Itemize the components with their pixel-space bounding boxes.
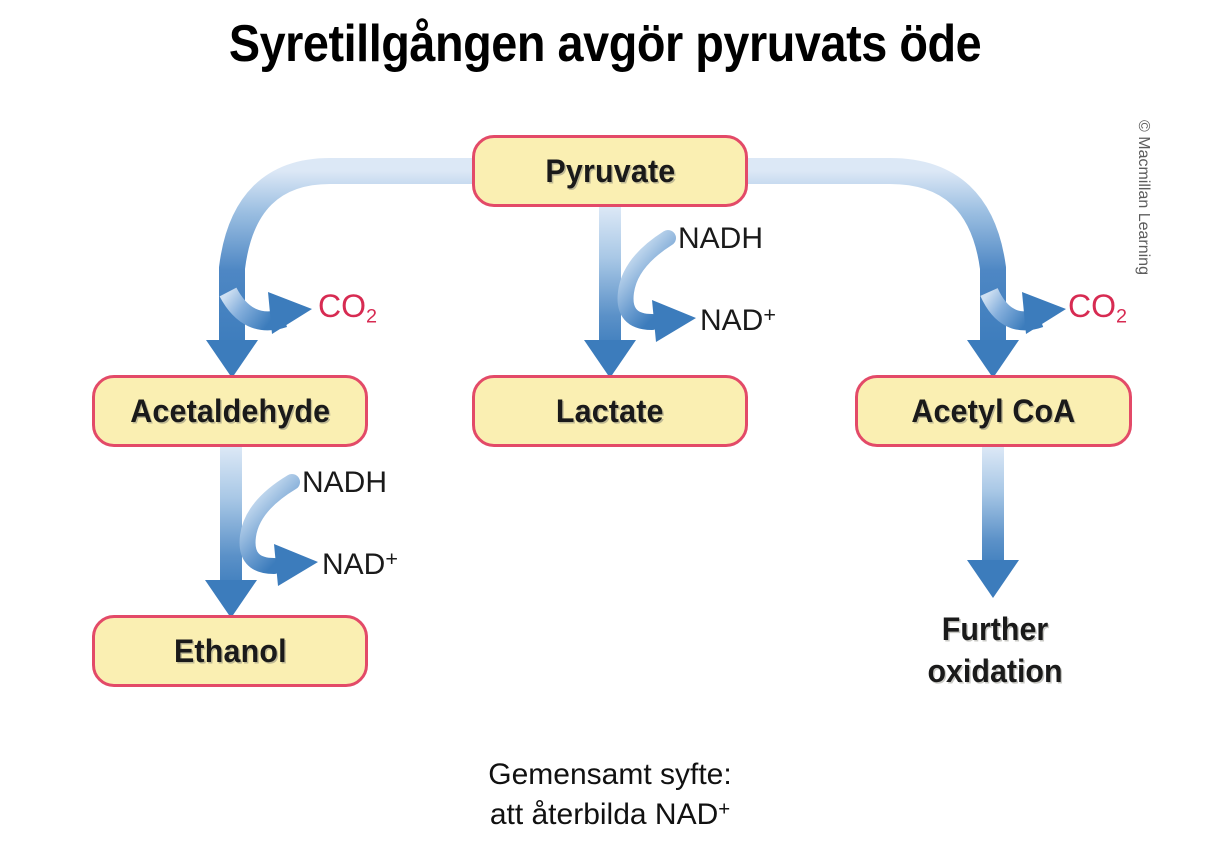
node-pyruvate-label: Pyruvate xyxy=(545,153,675,190)
node-further-oxidation-line2: oxidation xyxy=(878,650,1112,692)
node-lactate-label: Lactate xyxy=(556,393,664,430)
label-nadh-lactate: NADH xyxy=(678,222,763,256)
label-co2-left: CO2 xyxy=(318,288,377,329)
bottom-caption-line2-text: att återbilda NAD xyxy=(490,798,718,831)
label-nadh-ethanol: NADH xyxy=(302,466,387,500)
label-nad-plus-lactate-superscript: + xyxy=(763,302,776,327)
label-nad-plus-ethanol: NAD+ xyxy=(322,546,398,582)
node-pyruvate[interactable]: Pyruvate xyxy=(472,135,748,207)
label-co2-right-text: CO xyxy=(1068,288,1116,324)
node-acetaldehyde-label: Acetaldehyde xyxy=(130,393,330,430)
node-further-oxidation-line1: Further xyxy=(878,608,1112,650)
bottom-caption-line2: att återbilda NAD+ xyxy=(305,795,915,835)
label-nad-plus-ethanol-text: NAD xyxy=(322,548,385,581)
node-acetyl-coa-label: Acetyl CoA xyxy=(911,393,1075,430)
label-co2-left-text: CO xyxy=(318,288,366,324)
label-co2-right-subscript: 2 xyxy=(1116,306,1127,328)
edge-pyruvate-to-acetaldehyde xyxy=(206,171,472,378)
bottom-caption: Gemensamt syfte: att återbilda NAD+ xyxy=(305,755,915,835)
node-ethanol[interactable]: Ethanol xyxy=(92,615,368,687)
bottom-caption-line2-superscript: + xyxy=(718,799,730,821)
node-lactate[interactable]: Lactate xyxy=(472,375,748,447)
edge-acetylcoa-to-further-oxidation xyxy=(967,447,1019,598)
node-acetaldehyde[interactable]: Acetaldehyde xyxy=(92,375,368,447)
edge-pyruvate-to-acetylcoa xyxy=(748,171,1019,378)
bottom-caption-line1: Gemensamt syfte: xyxy=(305,755,915,795)
label-co2-left-subscript: 2 xyxy=(366,306,377,328)
label-nad-plus-lactate: NAD+ xyxy=(700,302,776,338)
node-ethanol-label: Ethanol xyxy=(174,633,287,670)
label-nad-plus-ethanol-superscript: + xyxy=(385,546,398,571)
diagram-canvas: Syretillgången avgör pyruvats öde xyxy=(0,0,1210,842)
node-further-oxidation: Further oxidation xyxy=(872,608,1118,692)
copyright-notice: © Macmillan Learning xyxy=(1134,120,1152,340)
label-co2-right: CO2 xyxy=(1068,288,1127,329)
label-nad-plus-lactate-text: NAD xyxy=(700,304,763,337)
node-acetyl-coa[interactable]: Acetyl CoA xyxy=(855,375,1132,447)
